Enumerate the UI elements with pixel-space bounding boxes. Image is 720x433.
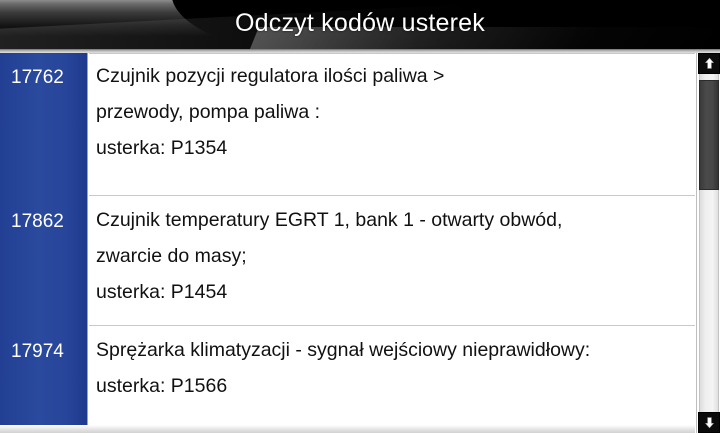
vertical-scrollbar[interactable] <box>696 53 720 433</box>
fault-code-list: 17762 Czujnik pozycji regulatora ilości … <box>0 53 720 433</box>
fault-code-number: 17974 <box>0 341 88 363</box>
description-line: usterka: P1454 <box>96 274 689 310</box>
window-titlebar: Odczyt kodów usterek <box>0 0 720 49</box>
row-separator <box>89 195 695 196</box>
fault-code-number: 17762 <box>0 67 88 89</box>
table-row[interactable]: 17762 Czujnik pozycji regulatora ilości … <box>0 53 695 195</box>
table-row[interactable]: 17974 Sprężarka klimatyzacji - sygnał we… <box>0 325 695 425</box>
description-line: usterka: P1354 <box>96 130 689 166</box>
description-line: Czujnik pozycji regulatora ilości paliwa… <box>96 58 689 94</box>
scroll-down-button[interactable] <box>698 412 720 433</box>
description-line: przewody, pompa paliwa : <box>96 94 689 130</box>
fault-code-number: 17862 <box>0 211 88 233</box>
fault-code-rows: 17762 Czujnik pozycji regulatora ilości … <box>0 53 695 425</box>
row-separator <box>89 53 695 54</box>
description-line: Sprężarka klimatyzacji - sygnał wejściow… <box>96 332 689 368</box>
row-separator <box>89 325 695 326</box>
scrollbar-thumb[interactable] <box>699 80 719 190</box>
scroll-up-arrow-icon <box>703 57 716 70</box>
description-line: zwarcie do masy; <box>96 238 689 274</box>
fault-code-description: Czujnik temperatury EGRT 1, bank 1 - otw… <box>96 202 689 310</box>
fault-code-description: Sprężarka klimatyzacji - sygnał wejściow… <box>96 332 689 404</box>
window-title: Odczyt kodów usterek <box>0 9 720 38</box>
scroll-up-button[interactable] <box>698 53 720 74</box>
fault-code-description: Czujnik pozycji regulatora ilości paliwa… <box>96 58 689 166</box>
description-line: Czujnik temperatury EGRT 1, bank 1 - otw… <box>96 202 689 238</box>
bottom-edge-strip <box>0 425 695 433</box>
scroll-down-arrow-icon <box>703 416 716 429</box>
description-line: usterka: P1566 <box>96 368 689 404</box>
table-row[interactable]: 17862 Czujnik temperatury EGRT 1, bank 1… <box>0 195 695 325</box>
fault-code-reader-window: Odczyt kodów usterek 17762 Czujnik pozyc… <box>0 0 720 433</box>
